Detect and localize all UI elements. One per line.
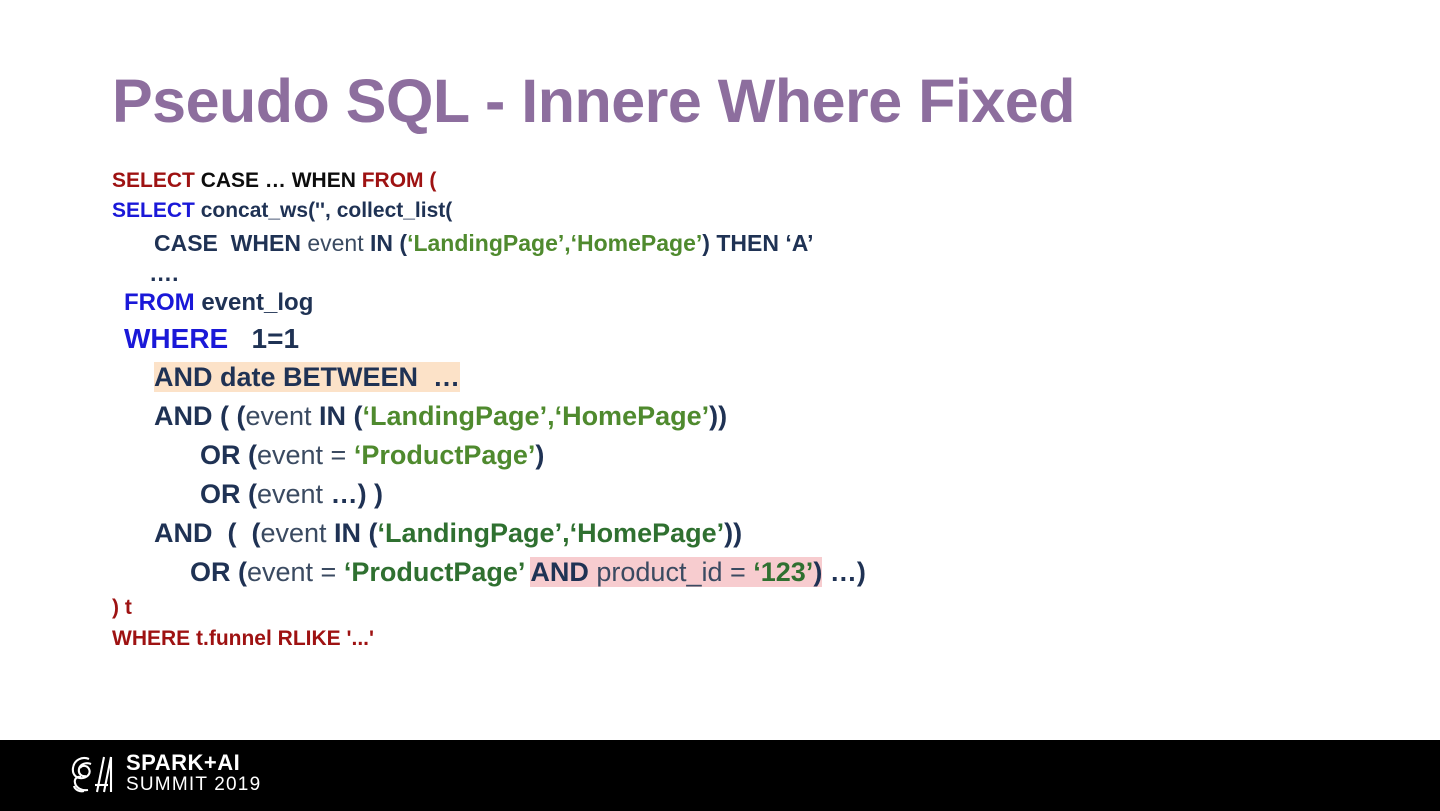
- code-token: OR (: [200, 479, 257, 509]
- code-line: SELECT CASE … WHEN FROM (: [112, 166, 1312, 196]
- code-token: FROM (: [362, 169, 437, 192]
- code-token: ‘LandingPage’,‘HomePage’: [378, 518, 725, 548]
- code-line-content: FROM event_log: [124, 289, 313, 316]
- code-line-content: ) t: [112, 596, 132, 619]
- code-token: event =: [257, 440, 354, 470]
- code-line: OR (event = ‘ProductPage’ AND product_id…: [112, 553, 1312, 592]
- code-line-content: ….: [130, 260, 179, 286]
- code-line: AND ( (event IN (‘LandingPage’,‘HomePage…: [112, 397, 1312, 436]
- code-line-content: OR (event = ‘ProductPage’): [200, 440, 544, 470]
- code-token: AND ( (: [154, 518, 260, 548]
- code-token-highlight: AND: [530, 557, 596, 587]
- code-token: …): [822, 557, 866, 587]
- code-token: AND date BETWEEN …: [154, 362, 460, 392]
- code-token: event: [307, 230, 363, 256]
- code-token: concat_ws('', collect_list(: [201, 199, 453, 222]
- code-token: OR (: [200, 440, 257, 470]
- code-token: event: [257, 479, 331, 509]
- code-line-content: OR (event …) ): [200, 479, 383, 509]
- slide-canvas: Pseudo SQL - Innere Where Fixed SELECT C…: [0, 0, 1440, 811]
- code-line: AND ( (event IN (‘LandingPage’,‘HomePage…: [112, 514, 1312, 553]
- code-line: AND date BETWEEN …: [112, 358, 1312, 397]
- code-line: WHERE t.funnel RLIKE '...': [112, 623, 1312, 654]
- code-token: )): [724, 518, 742, 548]
- code-line: FROM event_log: [112, 286, 1312, 320]
- code-line-content: WHERE 1=1: [124, 323, 299, 354]
- code-token: event =: [247, 557, 344, 587]
- code-block: SELECT CASE … WHEN FROM (SELECT concat_w…: [112, 166, 1312, 654]
- code-token: SELECT: [112, 169, 201, 192]
- code-token: CASE WHEN: [154, 230, 307, 256]
- code-token: IN (: [364, 230, 407, 256]
- code-line: OR (event = ‘ProductPage’): [112, 436, 1312, 475]
- footer-logo-text: SPARK+AI SUMMIT 2019: [126, 752, 261, 796]
- code-token: ) THEN: [702, 230, 785, 256]
- code-token: event: [245, 401, 311, 431]
- code-token: event: [260, 518, 326, 548]
- code-token: FROM: [124, 289, 201, 316]
- code-line: ) t: [112, 592, 1312, 623]
- code-line-content: SELECT concat_ws('', collect_list(: [112, 199, 452, 222]
- code-token-highlight: ): [813, 557, 822, 587]
- code-token: ….: [130, 260, 179, 286]
- footer-logo-line1: SPARK+AI: [126, 752, 261, 774]
- code-line-highlight: AND date BETWEEN …: [154, 362, 460, 392]
- code-line: WHERE 1=1: [112, 320, 1312, 358]
- code-token: …) ): [331, 479, 383, 509]
- code-token: ‘ProductPage’: [344, 557, 524, 587]
- code-line-content: AND ( (event IN (‘LandingPage’,‘HomePage…: [154, 401, 727, 431]
- code-token: WHERE: [124, 323, 236, 354]
- code-line: OR (event …) ): [112, 475, 1312, 514]
- code-line-content: SELECT CASE … WHEN FROM (: [112, 169, 436, 192]
- code-token: ‘LandingPage’,‘HomePage’: [407, 230, 702, 256]
- code-token: ‘A’: [785, 230, 813, 256]
- spark-ai-summit-logo-icon: [68, 752, 116, 796]
- code-token: event_log: [201, 289, 313, 316]
- footer-logo-line2: SUMMIT 2019: [126, 774, 261, 796]
- footer-logo: SPARK+AI SUMMIT 2019: [68, 752, 261, 796]
- code-line: ….: [112, 260, 1312, 286]
- code-token: ‘ProductPage’: [354, 440, 536, 470]
- code-token: AND ( (: [154, 401, 245, 431]
- code-token: SELECT: [112, 199, 201, 222]
- code-token: ) t: [112, 596, 132, 619]
- code-token: OR (: [190, 557, 247, 587]
- page-title: Pseudo SQL - Innere Where Fixed: [112, 68, 1075, 135]
- code-token: )): [709, 401, 727, 431]
- code-line-content: OR (event = ‘ProductPage’ AND product_id…: [190, 557, 866, 587]
- code-token: WHERE t.funnel RLIKE '...': [112, 627, 374, 650]
- code-line: SELECT concat_ws('', collect_list(: [112, 196, 1312, 226]
- code-token: IN (: [327, 518, 378, 548]
- code-token: ): [535, 440, 544, 470]
- code-token-highlight: product_id =: [596, 557, 753, 587]
- code-line: CASE WHEN event IN (‘LandingPage’,‘HomeP…: [112, 226, 1312, 260]
- code-token: 1=1: [236, 323, 299, 354]
- code-token: CASE … WHEN: [201, 169, 362, 192]
- code-token-highlight: ‘123’: [753, 557, 813, 587]
- code-token: IN (: [312, 401, 363, 431]
- code-line-content: AND ( (event IN (‘LandingPage’,‘HomePage…: [154, 518, 742, 548]
- code-line-content: CASE WHEN event IN (‘LandingPage’,‘HomeP…: [154, 230, 813, 256]
- code-token: ‘LandingPage’,‘HomePage’: [363, 401, 710, 431]
- code-line-content: WHERE t.funnel RLIKE '...': [112, 627, 374, 650]
